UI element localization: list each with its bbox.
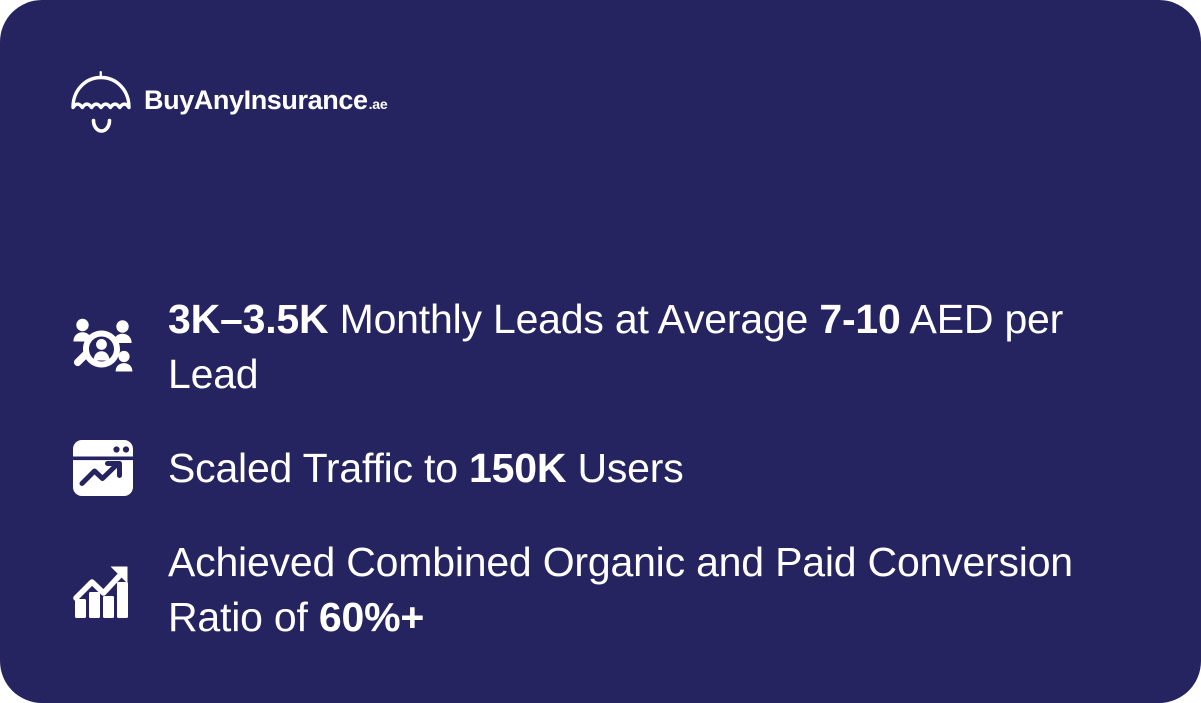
- audience-search-icon: [70, 308, 136, 386]
- stat-text: 3K–3.5K Monthly Leads at Average 7-10 AE…: [168, 292, 1130, 401]
- stat-plain: Monthly Leads at Average: [328, 296, 819, 342]
- brand-name: BuyAnyInsurance: [144, 85, 368, 116]
- stat-highlight: 3K–3.5K: [168, 296, 328, 342]
- stat-highlight: 150K: [469, 445, 566, 491]
- stat-plain: Achieved Combined Organic and Paid Conve…: [168, 539, 1073, 640]
- umbrella-icon: [70, 67, 132, 137]
- browser-trend-icon: [70, 429, 136, 507]
- brand-logo: BuyAnyInsurance .ae: [70, 68, 387, 132]
- results-card: BuyAnyInsurance .ae: [0, 0, 1201, 703]
- bar-chart-growth-icon: [70, 551, 136, 629]
- stat-highlight: 60%+: [319, 594, 424, 640]
- stat-text: Scaled Traffic to 150K Users: [168, 441, 684, 496]
- stat-highlight: 7-10: [819, 296, 900, 342]
- brand-wordmark: BuyAnyInsurance .ae: [144, 85, 387, 116]
- stat-plain: Users: [566, 445, 683, 491]
- stat-row: 3K–3.5K Monthly Leads at Average 7-10 AE…: [70, 292, 1130, 401]
- stats-list: 3K–3.5K Monthly Leads at Average 7-10 AE…: [70, 292, 1130, 644]
- stat-text: Achieved Combined Organic and Paid Conve…: [168, 535, 1130, 644]
- stat-row: Scaled Traffic to 150K Users: [70, 429, 1130, 507]
- stat-row: Achieved Combined Organic and Paid Conve…: [70, 535, 1130, 644]
- brand-tld: .ae: [369, 96, 388, 112]
- stat-plain: Scaled Traffic to: [168, 445, 469, 491]
